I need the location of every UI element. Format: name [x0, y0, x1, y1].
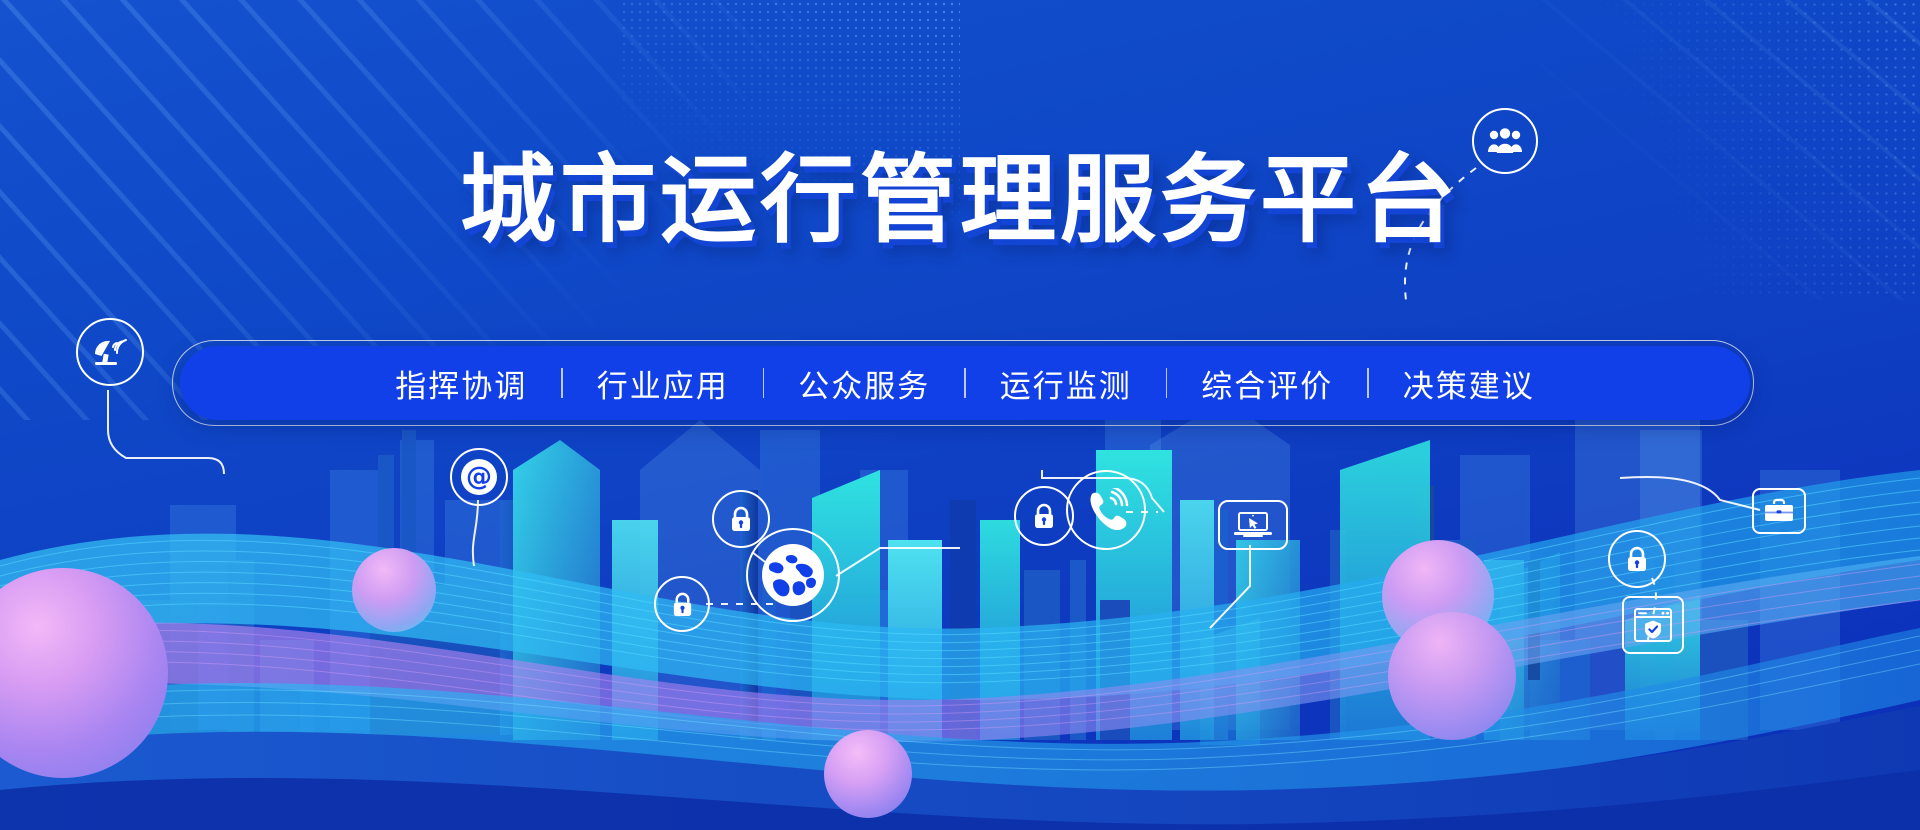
satellite-dish-glyph: [91, 334, 129, 370]
nav-item-public-service[interactable]: 公众服务: [764, 361, 964, 406]
globe-glyph: [760, 542, 826, 608]
laptop-cursor-icon[interactable]: [1218, 500, 1288, 550]
page-title-container: 城市运行管理服务平台: [0, 150, 1920, 251]
page-title: 城市运行管理服务平台: [460, 150, 1460, 251]
sphere-center-small: [824, 730, 912, 818]
briefcase-glyph: [1763, 498, 1795, 524]
sphere-mid: [352, 548, 436, 632]
nav-item-command-coordination[interactable]: 指挥协调: [361, 361, 561, 406]
people-group-icon[interactable]: [1472, 108, 1538, 174]
lock-glyph: [1031, 502, 1057, 530]
nav-item-decision-advice[interactable]: 决策建议: [1369, 361, 1569, 406]
at-sign-label: @: [466, 464, 492, 490]
satellite-dish-icon[interactable]: [76, 318, 144, 386]
lock-badge-4[interactable]: [1608, 530, 1666, 588]
phone-call-badge[interactable]: [1066, 470, 1146, 550]
lock-badge-3[interactable]: [1014, 486, 1074, 546]
lock-icon-3[interactable]: [1014, 486, 1074, 546]
lock-badge-2[interactable]: [654, 576, 710, 632]
lock-icon-2[interactable]: [654, 576, 710, 632]
phone-call-glyph: [1083, 488, 1129, 532]
people-group-glyph: [1487, 128, 1523, 154]
nav-item-comprehensive-evaluation[interactable]: 综合评价: [1167, 361, 1367, 406]
sphere-right-large: [1388, 612, 1516, 740]
globe-badge[interactable]: [746, 528, 840, 622]
briefcase-icon[interactable]: [1752, 488, 1806, 534]
at-sign-disc: @: [461, 459, 497, 495]
nav-item-operation-monitoring[interactable]: 运行监测: [966, 361, 1166, 406]
laptop-glyph: [1231, 510, 1275, 540]
satellite-dish-badge[interactable]: [76, 318, 144, 386]
phone-call-icon[interactable]: [1066, 470, 1146, 550]
at-sign-badge[interactable]: @: [450, 448, 508, 506]
globe-icon[interactable]: [746, 528, 840, 622]
lock-glyph: [670, 591, 695, 618]
main-nav-bar[interactable]: 指挥协调行业应用公众服务运行监测综合评价决策建议: [180, 346, 1750, 420]
lock-glyph: [1624, 545, 1650, 573]
browser-shield-glyph: [1633, 607, 1673, 643]
banner-stage: 城市运行管理服务平台 指挥协调行业应用公众服务运行监测综合评价决策建议: [0, 0, 1920, 830]
lock-icon-4[interactable]: [1608, 530, 1666, 588]
people-group-badge[interactable]: [1472, 108, 1538, 174]
browser-shield-icon[interactable]: [1622, 596, 1684, 654]
browser-shield-badge[interactable]: [1622, 596, 1684, 654]
laptop-cursor-badge[interactable]: [1218, 500, 1288, 550]
briefcase-badge[interactable]: [1752, 488, 1806, 534]
nav-item-industry-application[interactable]: 行业应用: [563, 361, 763, 406]
at-sign-icon[interactable]: @: [450, 448, 508, 506]
